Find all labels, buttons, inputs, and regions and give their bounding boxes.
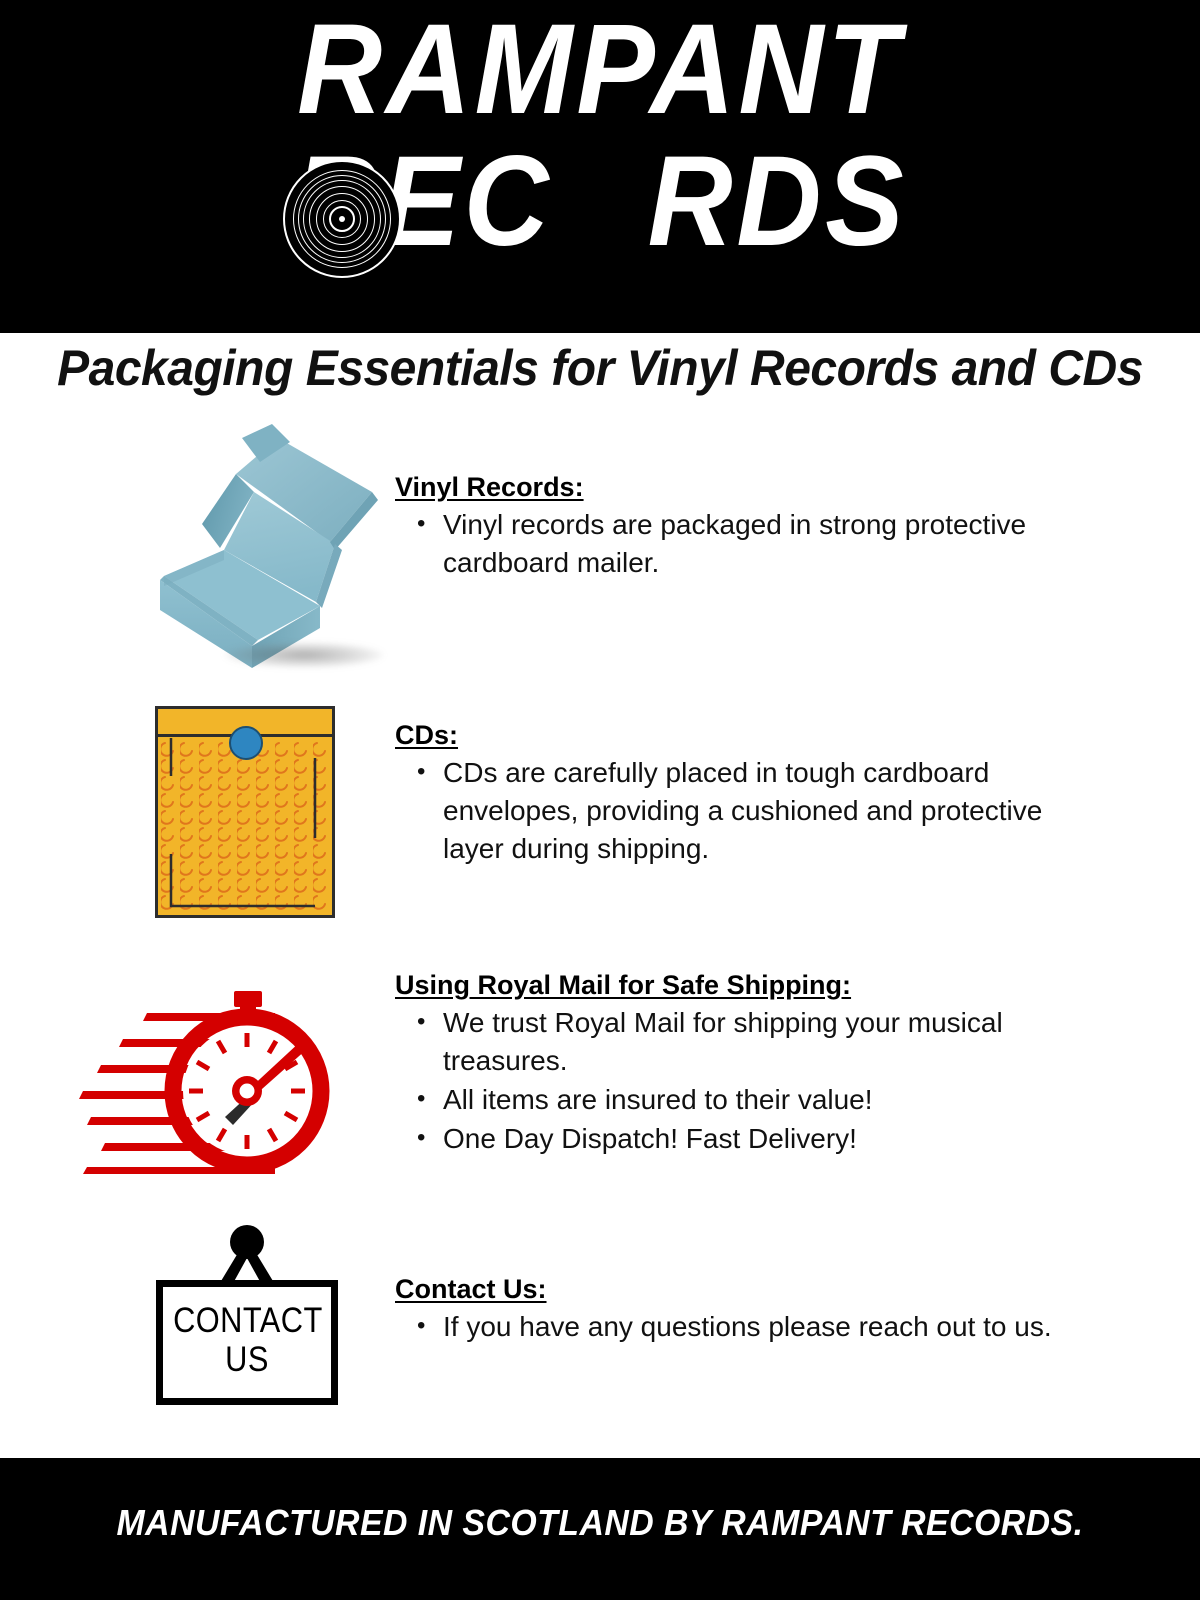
cds-text-block: CDs: CDs are carefully placed in tough c… (395, 718, 1095, 869)
vinyl-center-hole (339, 216, 345, 222)
list-item: If you have any questions please reach o… (443, 1308, 1095, 1346)
sign-line-2: US (173, 1340, 321, 1379)
royal-mail-bullet-list: We trust Royal Mail for shipping your mu… (395, 1004, 1095, 1158)
brand-header: RAMPANT RECORDS (0, 0, 1200, 333)
padded-envelope-icon (155, 706, 335, 918)
envelope-seal-sticker (229, 726, 263, 760)
cardboard-mailer-box-icon (120, 420, 410, 690)
royal-mail-heading: Using Royal Mail for Safe Shipping: (395, 968, 1095, 1002)
brand-line-2-after: RDS (648, 130, 908, 273)
footer-bar: MANUFACTURED IN SCOTLAND BY RAMPANT RECO… (0, 1458, 1200, 1600)
cds-heading: CDs: (395, 718, 1095, 752)
sign-line-1: CONTACT (173, 1301, 321, 1340)
vinyl-records-text-block: Vinyl Records: Vinyl records are package… (395, 470, 1095, 583)
cds-bullet-list: CDs are carefully placed in tough cardbo… (395, 754, 1095, 868)
fast-stopwatch-icon (75, 955, 375, 1195)
brand-line-1: RAMPANT (48, 6, 1152, 134)
stopwatch-svg (75, 955, 375, 1195)
mailer-box-svg (120, 420, 410, 670)
poster-page: RAMPANT RECORDS Packaging Essentials for… (0, 0, 1200, 1600)
vinyl-records-bullet-list: Vinyl records are packaged in strong pro… (395, 506, 1095, 582)
list-item: All items are insured to their value! (443, 1081, 1095, 1119)
list-item: We trust Royal Mail for shipping your mu… (443, 1004, 1095, 1080)
sign-board: CONTACT US (156, 1280, 338, 1405)
page-title: Packaging Essentials for Vinyl Records a… (24, 338, 1176, 398)
royal-mail-text-block: Using Royal Mail for Safe Shipping: We t… (395, 968, 1095, 1159)
vinyl-record-icon (283, 160, 401, 278)
contact-us-heading: Contact Us: (395, 1272, 1095, 1306)
vinyl-records-heading: Vinyl Records: (395, 470, 1095, 504)
brand-line-2-wrapper: RECORDS (0, 138, 1200, 288)
contact-us-text-block: Contact Us: If you have any questions pl… (395, 1272, 1095, 1347)
hanging-contact-sign-icon: CONTACT US (150, 1218, 345, 1408)
footer-text: MANUFACTURED IN SCOTLAND BY RAMPANT RECO… (36, 1502, 1164, 1544)
contact-us-bullet-list: If you have any questions please reach o… (395, 1308, 1095, 1346)
box-drop-shadow (224, 642, 384, 668)
list-item: Vinyl records are packaged in strong pro… (443, 506, 1095, 582)
list-item: CDs are carefully placed in tough cardbo… (443, 754, 1095, 868)
list-item: One Day Dispatch! Fast Delivery! (443, 1120, 1095, 1158)
